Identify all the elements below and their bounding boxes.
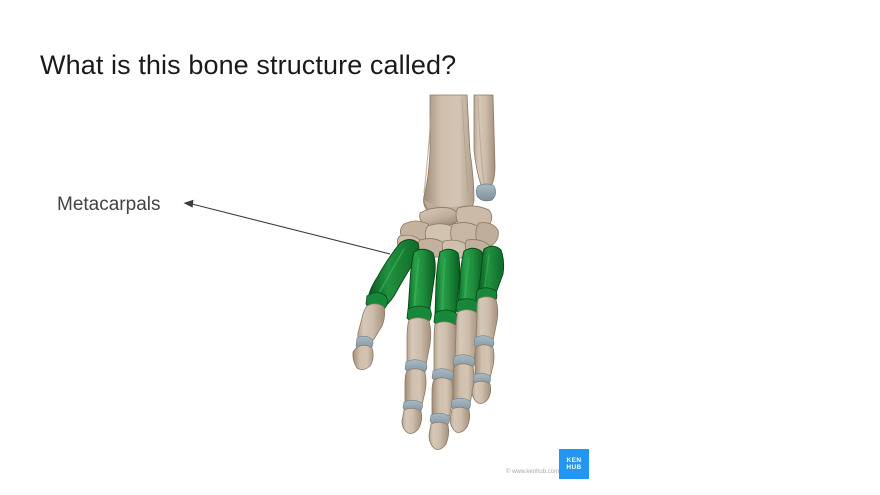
index-finger-phalanges: [402, 318, 431, 434]
radius-bone: [424, 95, 474, 217]
thumb-phalanges: [353, 304, 385, 370]
callout-label-metacarpals: Metacarpals: [57, 193, 161, 217]
copyright-text: © www.kenhub.com: [506, 468, 559, 476]
slide-canvas: What is this bone structure called?: [0, 0, 880, 495]
kenhub-logo-line1: KEN: [567, 457, 582, 465]
hand-skeleton-illustration: [0, 0, 880, 495]
ulna-bone: [474, 95, 496, 201]
kenhub-logo-line2: HUB: [566, 464, 581, 472]
kenhub-logo: KEN HUB: [559, 449, 589, 479]
metacarpal-3: [434, 249, 460, 328]
